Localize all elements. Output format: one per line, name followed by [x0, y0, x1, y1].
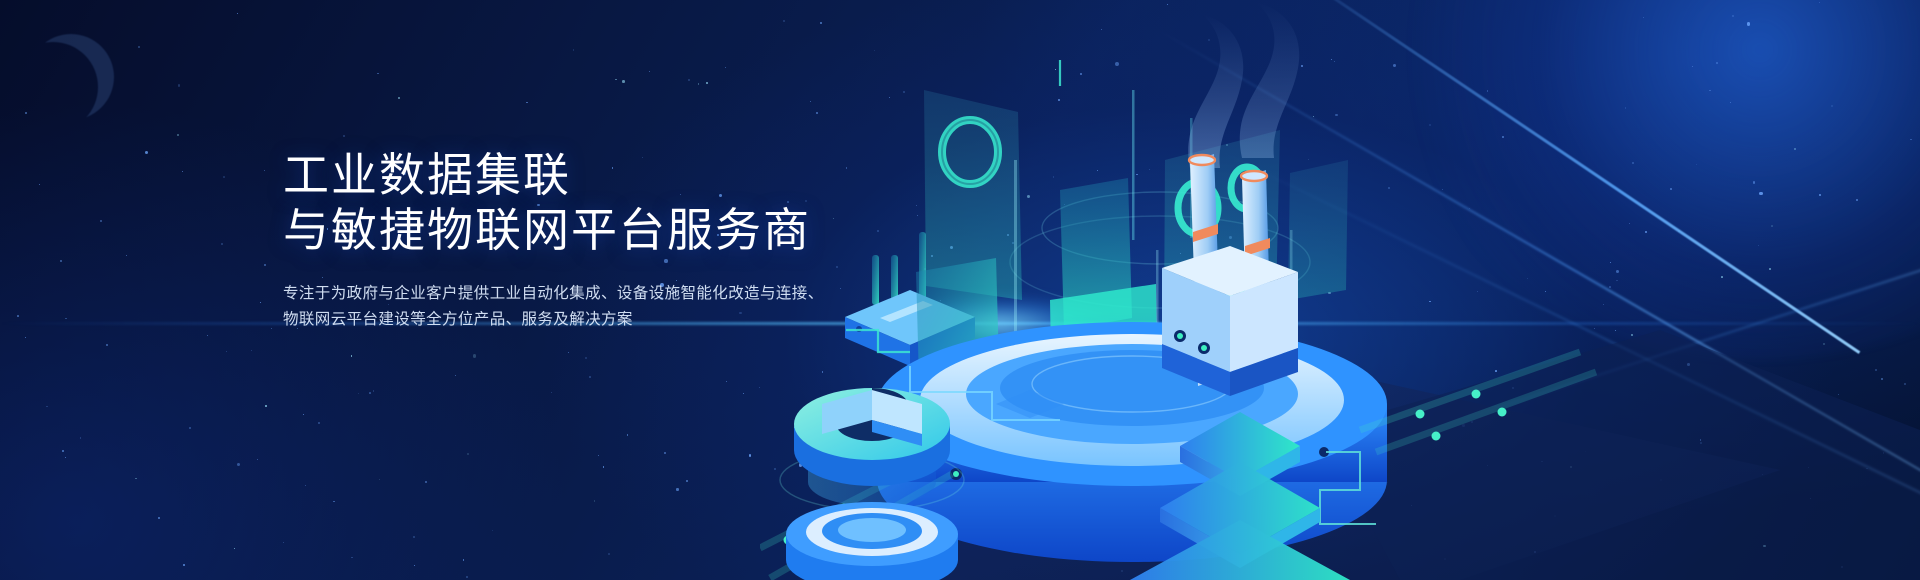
- star: [649, 71, 650, 72]
- star: [271, 328, 272, 329]
- star: [135, 478, 137, 480]
- subtitle-line-2: 物联网云平台建设等全方位产品、服务及解决方案: [283, 307, 923, 333]
- star: [138, 46, 140, 48]
- star: [65, 457, 66, 458]
- star: [568, 352, 569, 353]
- disc-base: [786, 502, 958, 580]
- star: [333, 501, 335, 503]
- star: [725, 67, 726, 68]
- star: [615, 79, 617, 81]
- star: [463, 559, 465, 561]
- star: [106, 344, 108, 346]
- star: [698, 83, 700, 85]
- star: [598, 455, 599, 456]
- star: [413, 536, 415, 538]
- star: [425, 481, 427, 483]
- hero-illustration: [760, 0, 1920, 580]
- headline-line-1: 工业数据集联: [283, 148, 923, 203]
- star: [126, 255, 127, 256]
- star: [398, 97, 400, 99]
- star: [585, 357, 587, 359]
- star: [183, 564, 185, 566]
- star: [178, 84, 181, 87]
- star: [603, 466, 605, 468]
- star: [264, 264, 265, 265]
- star: [676, 488, 678, 490]
- star: [379, 479, 381, 481]
- star: [251, 350, 252, 351]
- star: [283, 542, 285, 544]
- star: [466, 576, 468, 578]
- star: [526, 102, 528, 104]
- star: [622, 80, 625, 83]
- star: [749, 454, 751, 456]
- star: [177, 134, 179, 136]
- star: [726, 381, 727, 382]
- star: [664, 452, 666, 454]
- star: [343, 135, 345, 137]
- star: [100, 220, 102, 222]
- star: [65, 318, 67, 320]
- star: [234, 548, 235, 549]
- star: [39, 184, 40, 185]
- star: [158, 517, 160, 519]
- star: [414, 565, 415, 566]
- subtitle-line-1: 专注于为政府与企业客户提供工业自动化集成、设备设施智能化改造与连接、: [283, 281, 923, 307]
- star: [25, 337, 26, 338]
- star: [627, 434, 628, 435]
- star: [589, 376, 591, 378]
- headline-line-2: 与敏捷物联网平台服务商: [283, 203, 923, 258]
- star: [743, 393, 745, 395]
- star: [688, 79, 690, 81]
- star: [351, 557, 353, 559]
- copy-block: 工业数据集联 与敏捷物联网平台服务商 专注于为政府与企业客户提供工业自动化集成、…: [283, 148, 923, 333]
- star: [473, 354, 477, 358]
- star: [573, 49, 575, 51]
- star: [351, 355, 352, 356]
- star: [46, 406, 48, 408]
- star: [257, 459, 258, 460]
- star: [221, 243, 223, 245]
- star: [686, 480, 688, 482]
- star: [182, 171, 183, 172]
- star: [260, 302, 261, 303]
- star: [265, 405, 267, 407]
- star: [467, 453, 469, 455]
- star: [305, 485, 306, 486]
- star: [207, 335, 208, 336]
- star: [455, 375, 457, 377]
- star: [60, 260, 62, 262]
- star: [226, 351, 227, 352]
- star: [377, 73, 378, 74]
- moon-crescent: [28, 34, 114, 120]
- star: [373, 390, 375, 392]
- star: [706, 82, 708, 84]
- star: [25, 112, 27, 114]
- star: [62, 450, 64, 452]
- star: [17, 315, 19, 317]
- star: [303, 414, 304, 415]
- star: [318, 422, 320, 424]
- star: [237, 13, 238, 14]
- star: [264, 170, 265, 171]
- star: [189, 427, 191, 429]
- hero-banner: 工业数据集联 与敏捷物联网平台服务商 专注于为政府与企业客户提供工业自动化集成、…: [0, 0, 1920, 580]
- star: [608, 553, 610, 555]
- star: [492, 530, 493, 531]
- star: [80, 437, 81, 438]
- star: [237, 463, 240, 466]
- star: [223, 176, 225, 178]
- star: [369, 392, 371, 394]
- star: [594, 500, 596, 502]
- star: [551, 392, 552, 393]
- star: [145, 151, 148, 154]
- star: [358, 393, 359, 394]
